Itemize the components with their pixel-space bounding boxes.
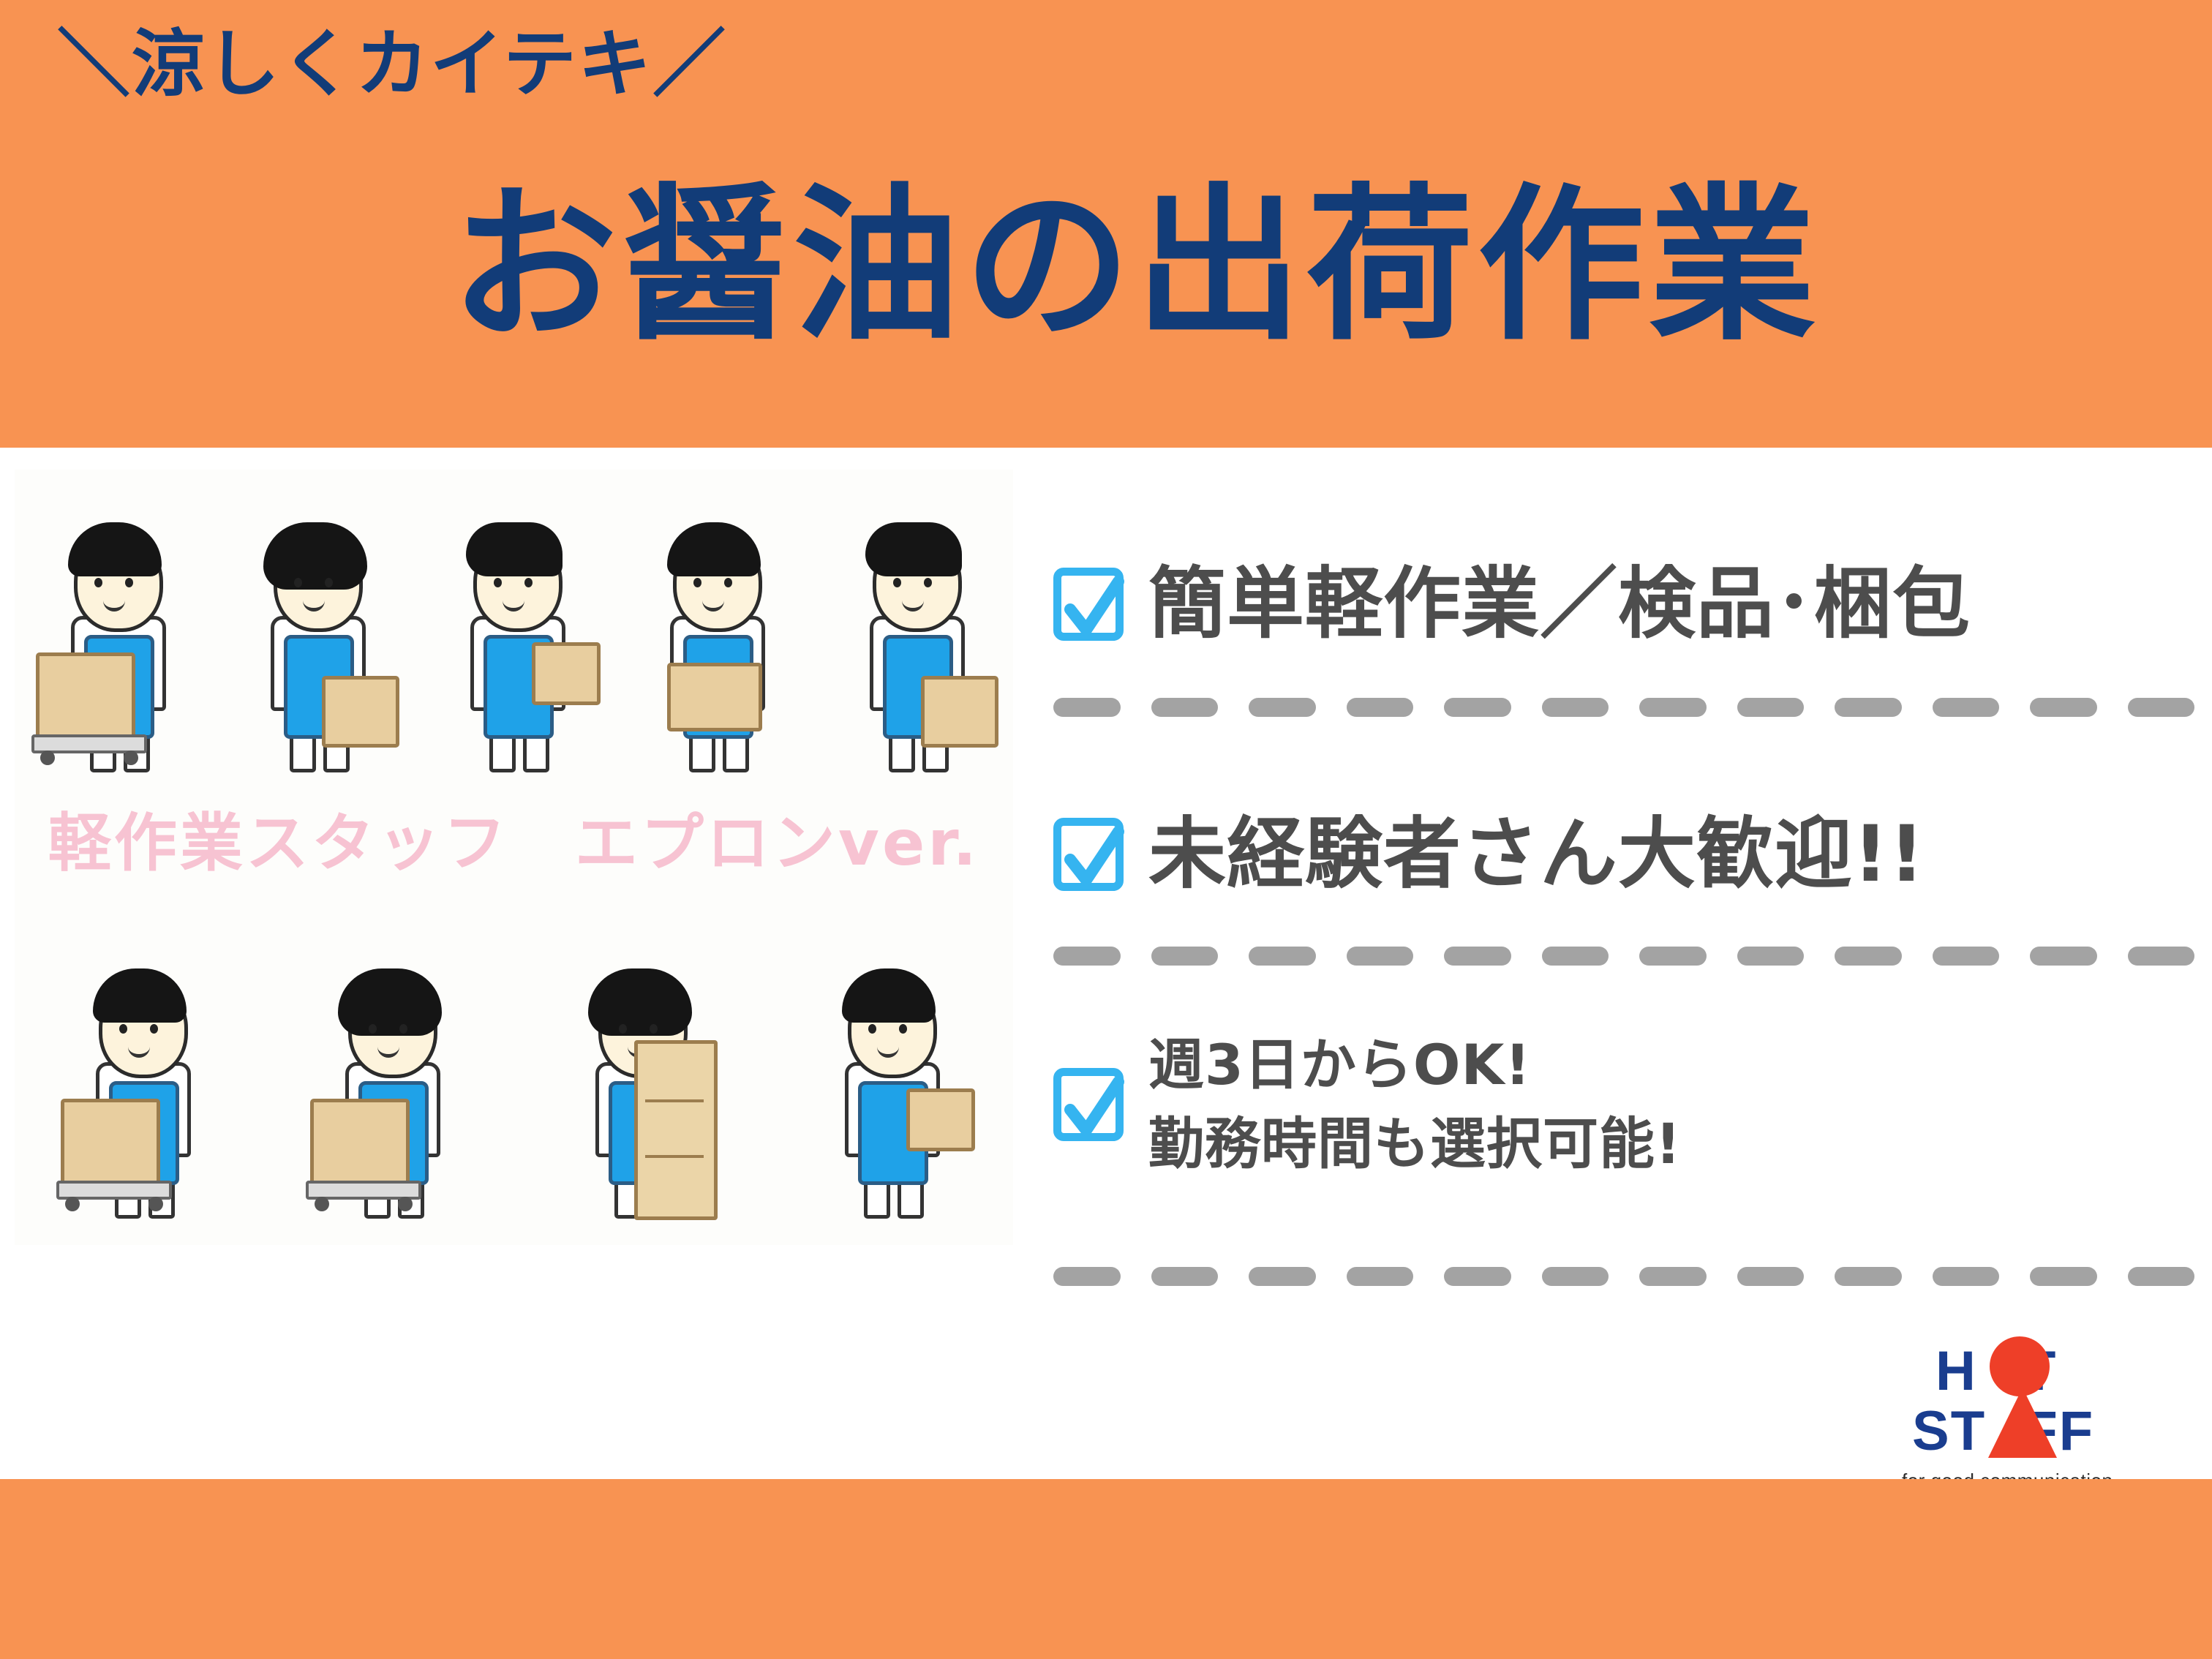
worker-holding-box-icon [236, 506, 393, 770]
header-kicker: ＼涼しくカイテキ／ [57, 28, 727, 101]
worker-packing-box-icon [435, 506, 592, 770]
worker-handcart-2-icon [310, 952, 467, 1216]
worker-taping-box-icon [810, 952, 967, 1216]
checklist-item-2-label: 未経験者さん大歓迎!! [1148, 813, 1925, 895]
worker-holding-box-side-icon [835, 506, 992, 770]
checklist-item-1-label: 簡単軽作業／検品･梱包 [1148, 563, 1971, 644]
checklist-item-3-line-1: 週3日からOK! [1148, 1026, 1682, 1105]
illustration-watermark: 軽作業スタッフ エプロンver. [15, 791, 1013, 883]
illustration-row-top [15, 484, 1013, 770]
illustration-row-bottom [15, 930, 1013, 1216]
checklist-divider-3 [1053, 1267, 2194, 1286]
checklist: 簡単軽作業／検品･梱包 未経験者さん大歓迎!! [1053, 470, 2194, 1274]
checklist-item-2[interactable]: 未経験者さん大歓迎!! [1053, 813, 1925, 895]
header-band: ＼涼しくカイテキ／ お醤油の出荷作業 [0, 0, 2212, 448]
checklist-item-3-label-group: 週3日からOK! 勤務時間も選択可能! [1148, 1026, 1682, 1184]
checklist-item-1[interactable]: 簡単軽作業／検品･梱包 [1053, 563, 1971, 644]
footer-band [0, 1479, 2212, 1659]
illustration-panel: 軽作業スタッフ エプロンver. [15, 470, 1013, 1245]
checklist-divider-1 [1053, 698, 2194, 717]
checkbox-checked-icon[interactable] [1053, 568, 1124, 641]
worker-pushing-cart-icon [36, 506, 193, 770]
hot-staff-logo: HOT STAFF for good communication [1902, 1344, 2165, 1472]
worker-with-shelf-icon [560, 952, 718, 1216]
worker-handcart-1-icon [61, 952, 218, 1216]
checkbox-checked-icon[interactable] [1053, 1068, 1124, 1141]
checkbox-checked-icon[interactable] [1053, 818, 1124, 891]
logo-letters-st: ST [1912, 1400, 1982, 1462]
worker-carrying-box-icon [635, 506, 792, 770]
checklist-item-3[interactable]: 週3日からOK! 勤務時間も選択可能! [1053, 1026, 1682, 1184]
checklist-item-3-line-2: 勤務時間も選択可能! [1148, 1105, 1682, 1184]
logo-line-staff: STAFF [1902, 1404, 2165, 1459]
checklist-divider-2 [1053, 947, 2194, 966]
page-title: お醤油の出荷作業 [29, 176, 2212, 355]
logo-letter-h: H [1935, 1340, 1977, 1402]
logo-red-triangle-icon [1988, 1388, 2057, 1458]
body-area: 軽作業スタッフ エプロンver. [0, 448, 2212, 1479]
